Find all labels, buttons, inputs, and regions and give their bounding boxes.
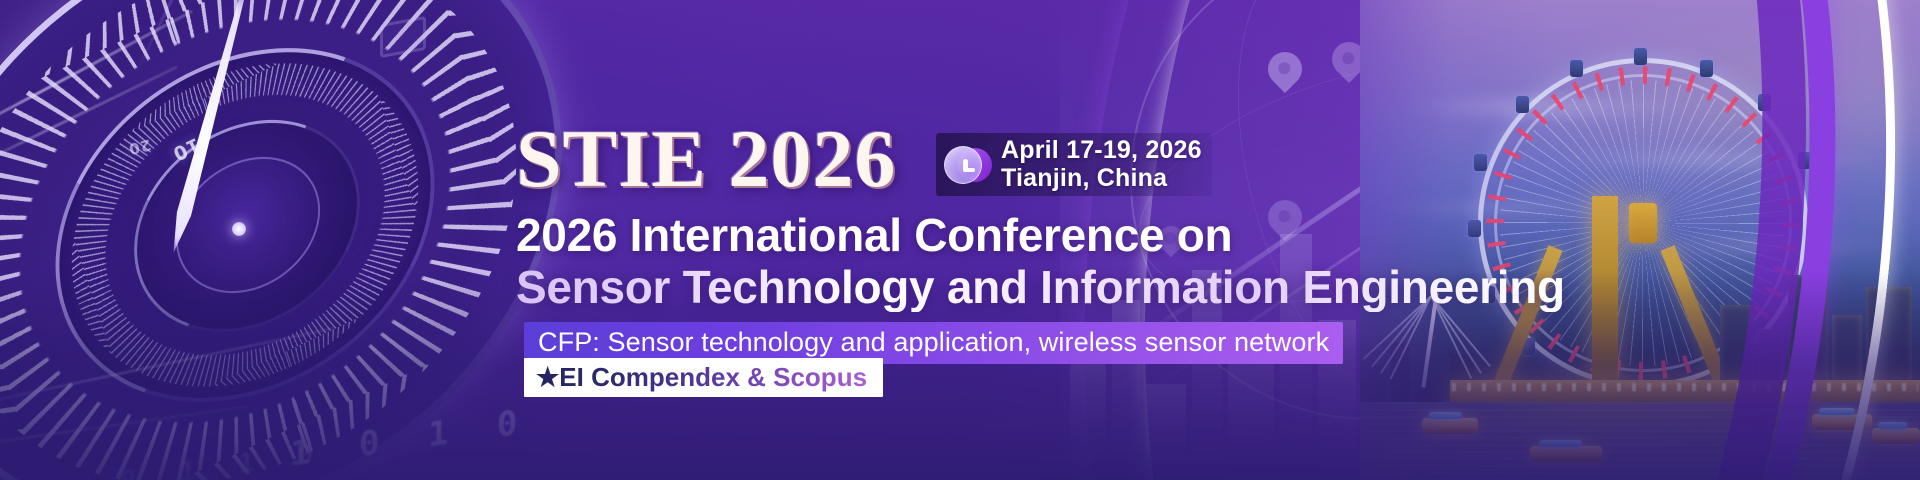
conference-subtitle-line1: 2026 International Conference on <box>516 210 1232 260</box>
conference-location: Tianjin, China <box>1001 165 1202 192</box>
clock-icon <box>942 142 988 188</box>
banner-content: STIE 2026 April 17-19, 2026 Tianjin, Chi… <box>0 0 1920 480</box>
indexing-text: ★EI Compendex & Scopus <box>536 362 867 392</box>
date-location-badge: April 17-19, 2026 Tianjin, China <box>936 133 1212 196</box>
cfp-topics-text: CFP: Sensor technology and application, … <box>538 327 1329 357</box>
conference-acronym-title: STIE 2026 <box>516 118 896 200</box>
conference-banner: 80 10 20 1 0 1 0 0 1 1 0 <box>0 0 1920 480</box>
indexing-banner-bar: ★EI Compendex & Scopus <box>524 358 883 397</box>
date-location-text: April 17-19, 2026 Tianjin, China <box>1001 137 1202 192</box>
clock-icon-minute-hand <box>963 168 975 173</box>
clock-icon-face <box>944 146 982 184</box>
conference-date: April 17-19, 2026 <box>1001 137 1202 164</box>
conference-subtitle-line2: Sensor Technology and Information Engine… <box>516 262 1565 312</box>
